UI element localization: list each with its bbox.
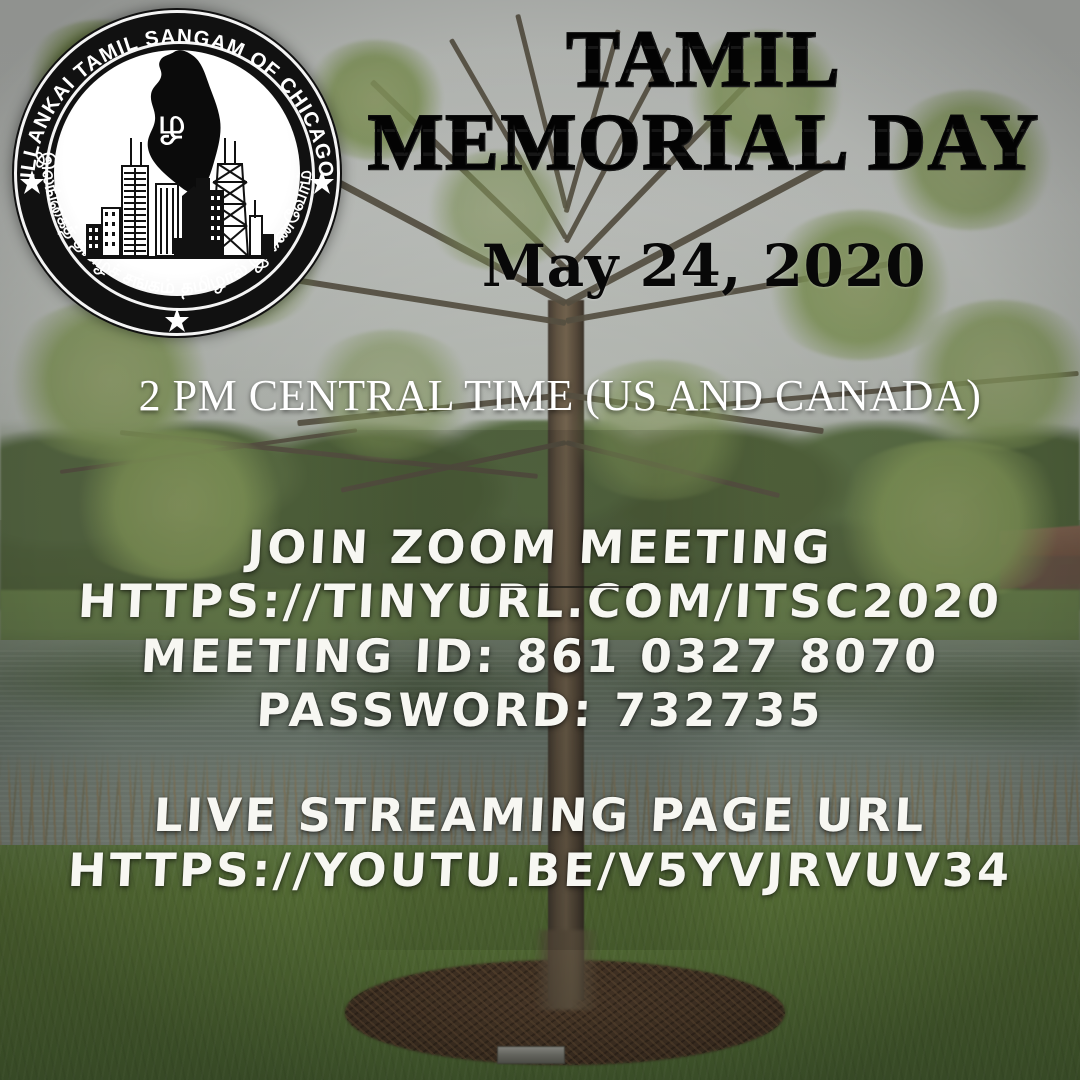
poster-title: TAMIL MEMORIAL DAY [330,22,1078,182]
zoom-password: PASSWORD: 732735 [39,683,1042,737]
live-stream-url[interactable]: HTTPS://YOUTU.BE/V5YVJRVUV34 [39,843,1042,898]
zoom-heading: JOIN ZOOM MEETING [39,520,1042,574]
live-stream-heading: LIVE STREAMING PAGE URL [39,788,1042,843]
chicago-skyline-icon [72,138,287,263]
title-line-1-text: TAMIL [566,22,841,99]
title-line-1: TAMIL [330,22,1078,99]
title-line-2: MEMORIAL DAY [330,105,1078,182]
zoom-meeting-id: MEETING ID: 861 0327 8070 [39,629,1042,683]
zoom-join-url[interactable]: HTTPS://TINYURL.COM/ITSC2020 [39,574,1042,628]
event-date: May 24, 2020 [330,232,1078,300]
event-time: 2 PM Central Time (US and Canada) [60,370,1060,421]
poster-canvas: ILLANKAI TAMIL SANGAM OF CHICAGO இலங்கைத… [0,0,1080,1080]
zoom-meeting-block: JOIN ZOOM MEETING HTTPS://TINYURL.COM/IT… [40,520,1040,737]
live-stream-block: LIVE STREAMING PAGE URL HTTPS://YOUTU.BE… [40,788,1040,898]
title-line-2-text: MEMORIAL DAY [368,105,1040,182]
organization-logo: ILLANKAI TAMIL SANGAM OF CHICAGO இலங்கைத… [12,8,342,338]
stray-line-artifact [468,586,633,588]
tamil-letter-emblem: ழ [158,105,185,139]
logo-star-bottom [165,308,189,332]
